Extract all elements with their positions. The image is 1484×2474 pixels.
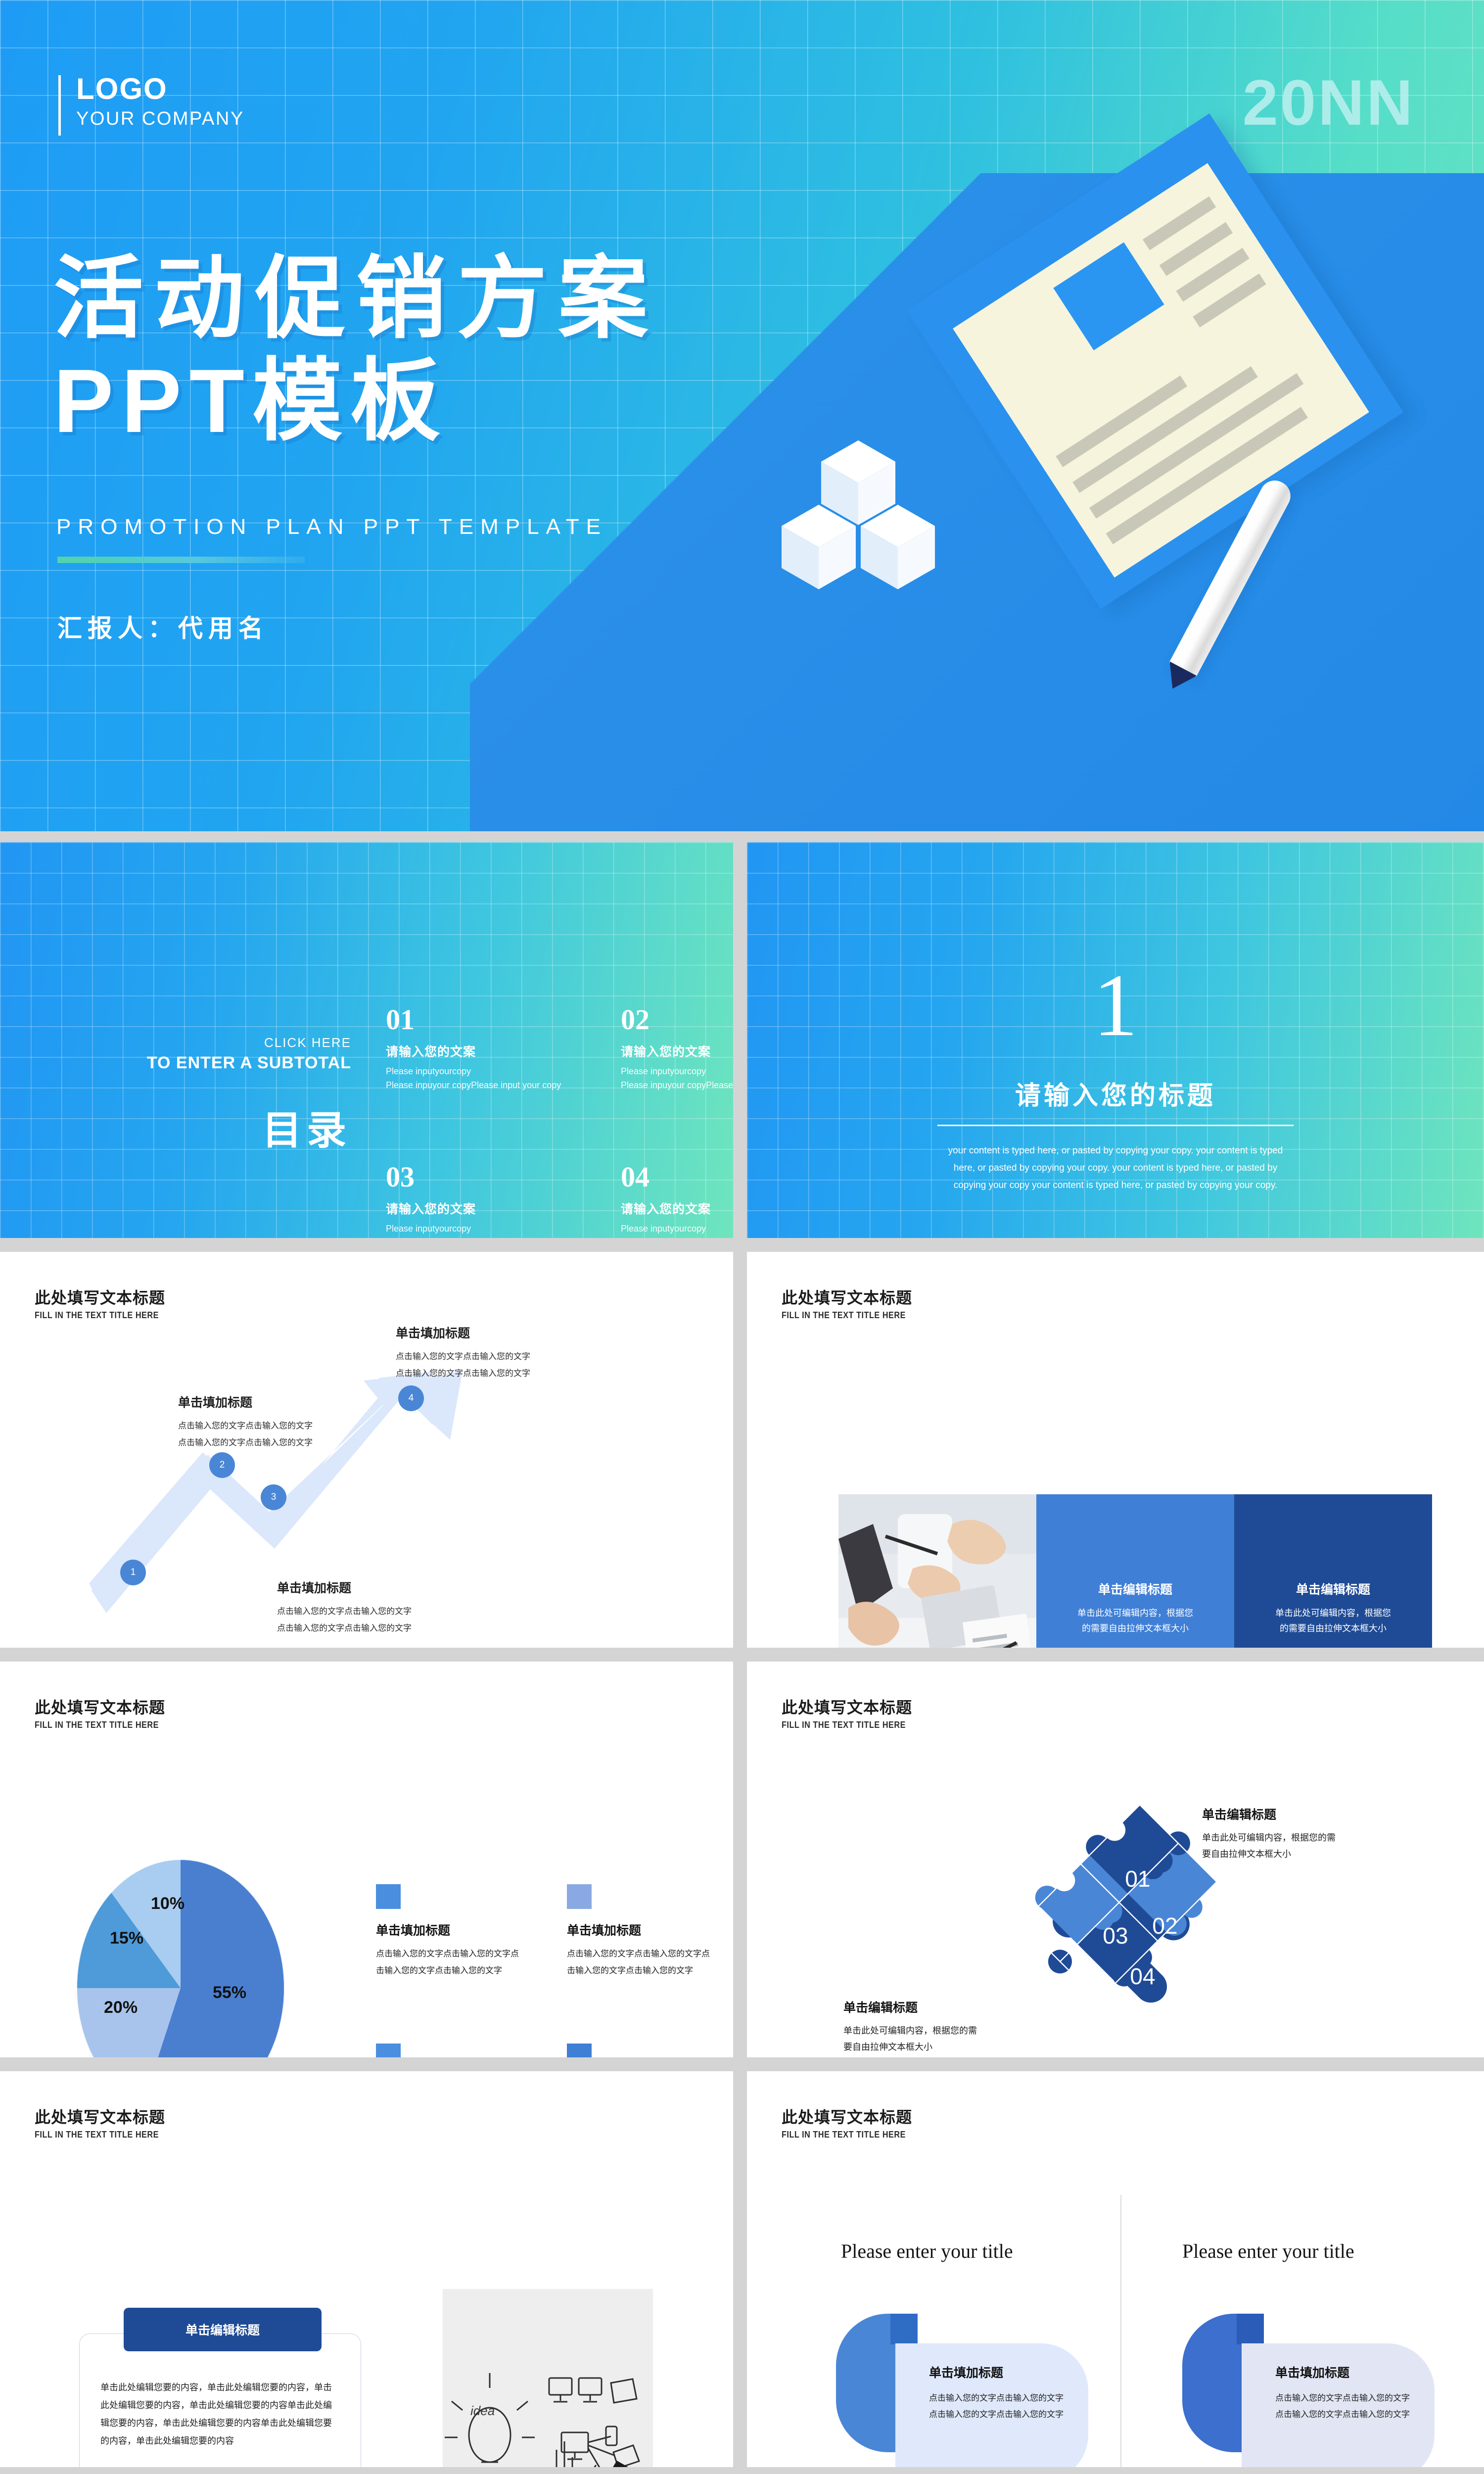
toc-heading: 请输入您的文案 [386, 1199, 586, 1217]
toc-heading: 请输入您的文案 [386, 1042, 586, 1060]
toc-number: 01 [386, 1005, 586, 1034]
accent-rule [57, 557, 305, 563]
pie-legend: 单击填加标题 点击输入您的文字点击输入您的文字点击输入您的文字点击输入您的文字 … [376, 1884, 712, 2057]
info-card-1[interactable]: 单击编辑标题 单击此处可编辑内容，根据您 的需要自由拉伸文本框大小 [1036, 1494, 1234, 1648]
cover-title-line1: 活动促销方案 [53, 247, 659, 350]
slide-pill-cards[interactable]: 此处填写文本标题 FILL IN THE TEXT TITLE HERE Ple… [747, 2071, 1484, 2467]
legend-item-4[interactable]: 单击填加标题 点击输入您的文字点击输入您的文字点击输入您的文字点击输入您的文字 [567, 2044, 712, 2057]
pill-text: 点击输入您的文字点击输入您的文字 点击输入您的文字点击输入您的文字 [1275, 2390, 1435, 2423]
pie-chart [77, 1859, 284, 2057]
legend-swatch [567, 1884, 592, 1909]
label-line2: 要自由拉伸文本框大小 [843, 2039, 1007, 2055]
toc-title-cn: 目录 [74, 1098, 351, 1156]
card-heading: 单击编辑标题 [1098, 1580, 1172, 1598]
step-badge-4: 4 [398, 1385, 424, 1411]
toc-copy-line2: Please inpuyour copyPlease input your co… [621, 1079, 733, 1093]
meeting-photo [838, 1494, 1036, 1648]
toc-copy: Please inputyourcopy Please inpuyour cop… [621, 1065, 733, 1093]
slide-table-of-contents[interactable]: CLICK HERE TO ENTER A SUBTOTAL 目录 01 请输入… [0, 842, 733, 1238]
legend-swatch [376, 1884, 401, 1909]
toc-click-here: CLICK HERE [74, 1035, 351, 1050]
step-body: 点击输入您的文字点击输入您的文字 点击输入您的文字点击输入您的文字 [178, 1418, 386, 1451]
card-line2: 的需要自由拉伸文本框大小 [1275, 1621, 1391, 1637]
step-line2: 点击输入您的文字点击输入您的文字 [178, 1434, 386, 1451]
page-title: 此处填写文本标题 [782, 1285, 920, 1308]
clipboard-paper [953, 163, 1369, 578]
slide-puzzle[interactable]: 此处填写文本标题 FILL IN THE TEXT TITLE HERE [747, 1662, 1484, 2057]
pill-heading: 单击填加标题 [929, 2363, 1088, 2381]
text-box-1: 单击此处编辑您要的内容，单击此处编辑您要的内容，单击此处编辑您要的内容，单击此处… [79, 2333, 361, 2467]
pen-tip [1159, 662, 1197, 696]
pie-label-20: 20% [104, 1998, 138, 2017]
page-subtitle: FILL IN THE TEXT TITLE HERE [782, 2130, 906, 2140]
label-line1: 单击此处可编辑内容，根据您的需 [1202, 1830, 1365, 1846]
toc-heading-block: CLICK HERE TO ENTER A SUBTOTAL 目录 [74, 1035, 351, 1156]
cover-title: 活动促销方案 PPT模板 [53, 247, 659, 453]
toc-item-02[interactable]: 02 请输入您的文案 Please inputyourcopy Please i… [621, 1005, 733, 1093]
page-subtitle: FILL IN THE TEXT TITLE HERE [35, 1310, 159, 1321]
slide-section-divider[interactable]: 1 请输入您的标题 your content is typed here, or… [747, 842, 1484, 1238]
pill-line1: 点击输入您的文字点击输入您的文字 [1275, 2390, 1435, 2406]
toc-copy-line2: Please inpuyour copyPlease input your co… [621, 1236, 733, 1238]
toc-heading: 请输入您的文案 [621, 1199, 733, 1217]
section-number: 1 [747, 961, 1484, 1050]
label-line2: 要自由拉伸文本框大小 [1202, 1846, 1365, 1862]
pill-line2: 点击输入您的文字点击输入您的文字 [1275, 2406, 1435, 2423]
svg-text:02: 02 [1152, 1913, 1177, 1939]
legend-item-3[interactable]: 单击填加标题 点击输入您的文字点击输入您的文字点击输入您的文字点击输入您的文字 [376, 2044, 521, 2057]
pie-label-15: 15% [110, 1929, 143, 1948]
step-text-2: 单击填加标题 点击输入您的文字点击输入您的文字 点击输入您的文字点击输入您的文字 [178, 1393, 386, 1451]
slide-header: 此处填写文本标题 FILL IN THE TEXT TITLE HERE [782, 1695, 920, 1730]
step-badge-3: 3 [261, 1484, 286, 1510]
slide-photo-cards[interactable]: 此处填写文本标题 FILL IN THE TEXT TITLE HERE [747, 1252, 1484, 1648]
slide-text-boxes[interactable]: 此处填写文本标题 FILL IN THE TEXT TITLE HERE 单击此… [0, 2071, 733, 2467]
step-body: 点击输入您的文字点击输入您的文字 点击输入您的文字点击输入您的文字 [396, 1348, 603, 1382]
toc-heading: 请输入您的文案 [621, 1042, 733, 1060]
page-title: 此处填写文本标题 [782, 2105, 920, 2128]
step-line2: 点击输入您的文字点击输入您的文字 [277, 1620, 485, 1637]
label-line1: 单击此处可编辑内容，根据您的需 [843, 2023, 1007, 2039]
photo-illustration [838, 1494, 1036, 1648]
clipboard-illustration [762, 163, 1464, 767]
page-title: 此处填写文本标题 [35, 2105, 173, 2128]
legend-heading: 单击填加标题 [376, 1921, 521, 1939]
legend-body: 点击输入您的文字点击输入您的文字点击输入您的文字点击输入您的文字 [567, 1946, 712, 1979]
slide-header: 此处填写文本标题 FILL IN THE TEXT TITLE HERE [35, 2105, 173, 2140]
toc-item-03[interactable]: 03 请输入您的文案 Please inputyourcopy Please i… [386, 1163, 586, 1238]
svg-text:01: 01 [1125, 1866, 1150, 1892]
section-title: 请输入您的标题 [747, 1075, 1484, 1112]
page-title: 此处填写文本标题 [35, 1695, 173, 1718]
section-block: 1 请输入您的标题 your content is typed here, or… [747, 961, 1484, 1194]
toc-subtotal-label: TO ENTER A SUBTOTAL [74, 1053, 351, 1073]
pill-heading: 单击填加标题 [1275, 2363, 1435, 2381]
step-line1: 点击输入您的文字点击输入您的文字 [396, 1348, 603, 1365]
puzzle-label-01: 单击编辑标题 单击此处可编辑内容，根据您的需 要自由拉伸文本框大小 [1202, 1805, 1365, 1863]
page-subtitle: FILL IN THE TEXT TITLE HERE [35, 2130, 159, 2140]
logo-text: LOGO [76, 73, 244, 104]
svg-text:03: 03 [1103, 1923, 1128, 1949]
legend-heading: 单击填加标题 [567, 1921, 712, 1939]
step-heading: 单击填加标题 [277, 1578, 485, 1596]
text-box-tab-1[interactable]: 单击编辑标题 [124, 2308, 322, 2351]
slide-cover[interactable]: LOGO YOUR COMPANY 20NN 活动促销方案 PPT模板 PROM… [0, 0, 1484, 831]
paper-photo-block [1053, 242, 1164, 350]
toc-copy-line1: Please inputyourcopy [621, 1222, 733, 1236]
legend-item-1[interactable]: 单击填加标题 点击输入您的文字点击输入您的文字点击输入您的文字点击输入您的文字 [376, 1884, 521, 1979]
pill-body: 单击填加标题 点击输入您的文字点击输入您的文字 点击输入您的文字点击输入您的文字 [1242, 2343, 1435, 2467]
pill-fold [890, 2314, 918, 2344]
logo-block: LOGO YOUR COMPANY [58, 73, 244, 130]
step-badge-1: 1 [120, 1560, 146, 1585]
toc-number: 03 [386, 1163, 586, 1191]
slide-pie-chart[interactable]: 此处填写文本标题 FILL IN THE TEXT TITLE HERE 55%… [0, 1662, 733, 2057]
toc-copy: Please inputyourcopy Please inpuyour cop… [386, 1222, 586, 1238]
label-body: 单击此处可编辑内容，根据您的需 要自由拉伸文本框大小 [1202, 1830, 1365, 1863]
slide-header: 此处填写文本标题 FILL IN THE TEXT TITLE HERE [782, 2105, 920, 2140]
column-title-right: Please enter your title [1182, 2239, 1354, 2263]
step-body: 点击输入您的文字点击输入您的文字 点击输入您的文字点击输入您的文字 [277, 1603, 485, 1637]
puzzle-label-03: 单击编辑标题 单击此处可编辑内容，根据您的需 要自由拉伸文本框大小 [843, 1998, 1007, 2056]
toc-copy-line1: Please inputyourcopy [386, 1222, 586, 1236]
pill-card-2[interactable]: 单击填加标题 点击输入您的文字点击输入您的文字 点击输入您的文字点击输入您的文字 [1182, 2314, 1479, 2462]
toc-number: 02 [621, 1005, 733, 1034]
svg-text:idea: idea [470, 2403, 495, 2418]
step-text-3: 单击填加标题 点击输入您的文字点击输入您的文字 点击输入您的文字点击输入您的文字 [277, 1578, 485, 1637]
ppt-template-preview: LOGO YOUR COMPANY 20NN 活动促销方案 PPT模板 PROM… [0, 0, 1484, 2474]
toc-copy: Please inputyourcopy Please inpuyour cop… [386, 1065, 586, 1093]
step-text-4: 单击填加标题 点击输入您的文字点击输入您的文字 点击输入您的文字点击输入您的文字 [396, 1324, 603, 1382]
card-line1: 单击此处可编辑内容，根据您 [1275, 1606, 1391, 1621]
toc-items: 01 请输入您的文案 Please inputyourcopy Please i… [386, 1005, 733, 1238]
pill-fold [1237, 2314, 1264, 2344]
pie-label-55: 55% [213, 1983, 246, 2002]
pill-body: 单击填加标题 点击输入您的文字点击输入您的文字 点击输入您的文字点击输入您的文字 [895, 2343, 1088, 2467]
toc-item-01[interactable]: 01 请输入您的文案 Please inputyourcopy Please i… [386, 1005, 586, 1093]
legend-swatch [376, 2044, 401, 2057]
section-rule [937, 1125, 1294, 1126]
toc-item-04[interactable]: 04 请输入您的文案 Please inputyourcopy Please i… [621, 1163, 733, 1238]
slide-header: 此处填写文本标题 FILL IN THE TEXT TITLE HERE [35, 1695, 173, 1730]
step-heading: 单击填加标题 [396, 1324, 603, 1341]
toc-copy-line2: Please inpuyour copyPlease input your co… [386, 1079, 586, 1093]
slide-header: 此处填写文本标题 FILL IN THE TEXT TITLE HERE [782, 1285, 920, 1321]
whiteboard-photo: idea on [443, 2289, 653, 2467]
legend-body: 点击输入您的文字点击输入您的文字点击输入您的文字点击输入您的文字 [376, 1946, 521, 1979]
card-line1: 单击此处可编辑内容，根据您 [1077, 1606, 1193, 1621]
page-subtitle: FILL IN THE TEXT TITLE HERE [35, 1720, 159, 1730]
year-label: 20NN [1243, 65, 1415, 140]
info-card-2[interactable]: 单击编辑标题 单击此处可编辑内容，根据您 的需要自由拉伸文本框大小 [1234, 1494, 1432, 1648]
pill-text: 点击输入您的文字点击输入您的文字 点击输入您的文字点击输入您的文字 [929, 2390, 1088, 2423]
pill-line1: 点击输入您的文字点击输入您的文字 [929, 2390, 1088, 2406]
step-line2: 点击输入您的文字点击输入您的文字 [396, 1365, 603, 1382]
page-subtitle: FILL IN THE TEXT TITLE HERE [782, 1720, 906, 1730]
legend-swatch [567, 2044, 592, 2057]
legend-item-2[interactable]: 单击填加标题 点击输入您的文字点击输入您的文字点击输入您的文字点击输入您的文字 [567, 1884, 712, 1979]
card-body: 单击此处可编辑内容，根据您 的需要自由拉伸文本框大小 [1077, 1606, 1193, 1637]
cover-author: 汇报人：代用名 [57, 609, 269, 644]
step-line1: 点击输入您的文字点击输入您的文字 [178, 1418, 386, 1434]
page-title: 此处填写文本标题 [35, 1285, 173, 1308]
column-title-left: Please enter your title [841, 2239, 1013, 2263]
card-heading: 单击编辑标题 [1296, 1580, 1370, 1598]
toc-copy-line1: Please inputyourcopy [621, 1065, 733, 1079]
card-body: 单击此处可编辑内容，根据您 的需要自由拉伸文本框大小 [1275, 1606, 1391, 1637]
company-name: YOUR COMPANY [76, 108, 244, 130]
cover-subtitle-en: PROMOTION PLAN PPT TEMPLATE [56, 515, 607, 539]
label-heading: 单击编辑标题 [1202, 1805, 1365, 1823]
cover-title-line2: PPT模板 [53, 350, 659, 452]
page-title: 此处填写文本标题 [782, 1695, 920, 1718]
toc-number: 04 [621, 1163, 733, 1191]
page-subtitle: FILL IN THE TEXT TITLE HERE [782, 1310, 906, 1321]
toc-copy-line2: Please inpuyour copyPlease input your co… [386, 1236, 586, 1238]
photo-illustration: idea on [443, 2289, 653, 2467]
toc-copy: Please inputyourcopy Please inpuyour cop… [621, 1222, 733, 1238]
toc-copy-line1: Please inputyourcopy [386, 1065, 586, 1079]
label-body: 单击此处可编辑内容，根据您的需 要自由拉伸文本框大小 [843, 2023, 1007, 2056]
pill-line2: 点击输入您的文字点击输入您的文字 [929, 2406, 1088, 2423]
pill-card-1[interactable]: 单击填加标题 点击输入您的文字点击输入您的文字 点击输入您的文字点击输入您的文字 [836, 2314, 1133, 2462]
step-line1: 点击输入您的文字点击输入您的文字 [277, 1603, 485, 1620]
slide-growth-arrow[interactable]: 此处填写文本标题 FILL IN THE TEXT TITLE HERE 1 2… [0, 1252, 733, 1648]
step-badge-2: 2 [209, 1452, 235, 1478]
pie-label-10: 10% [151, 1894, 185, 1913]
section-body: your content is typed here, or pasted by… [942, 1142, 1289, 1194]
svg-text:04: 04 [1130, 1963, 1155, 1989]
clipboard-shape [907, 113, 1403, 609]
slide-header: 此处填写文本标题 FILL IN THE TEXT TITLE HERE [35, 1285, 173, 1321]
card-line2: 的需要自由拉伸文本框大小 [1077, 1621, 1193, 1637]
text-box-body: 单击此处编辑您要的内容，单击此处编辑您要的内容，单击此处编辑您要的内容，单击此处… [100, 2379, 340, 2450]
step-heading: 单击填加标题 [178, 1393, 386, 1411]
label-heading: 单击编辑标题 [843, 1998, 1007, 2016]
